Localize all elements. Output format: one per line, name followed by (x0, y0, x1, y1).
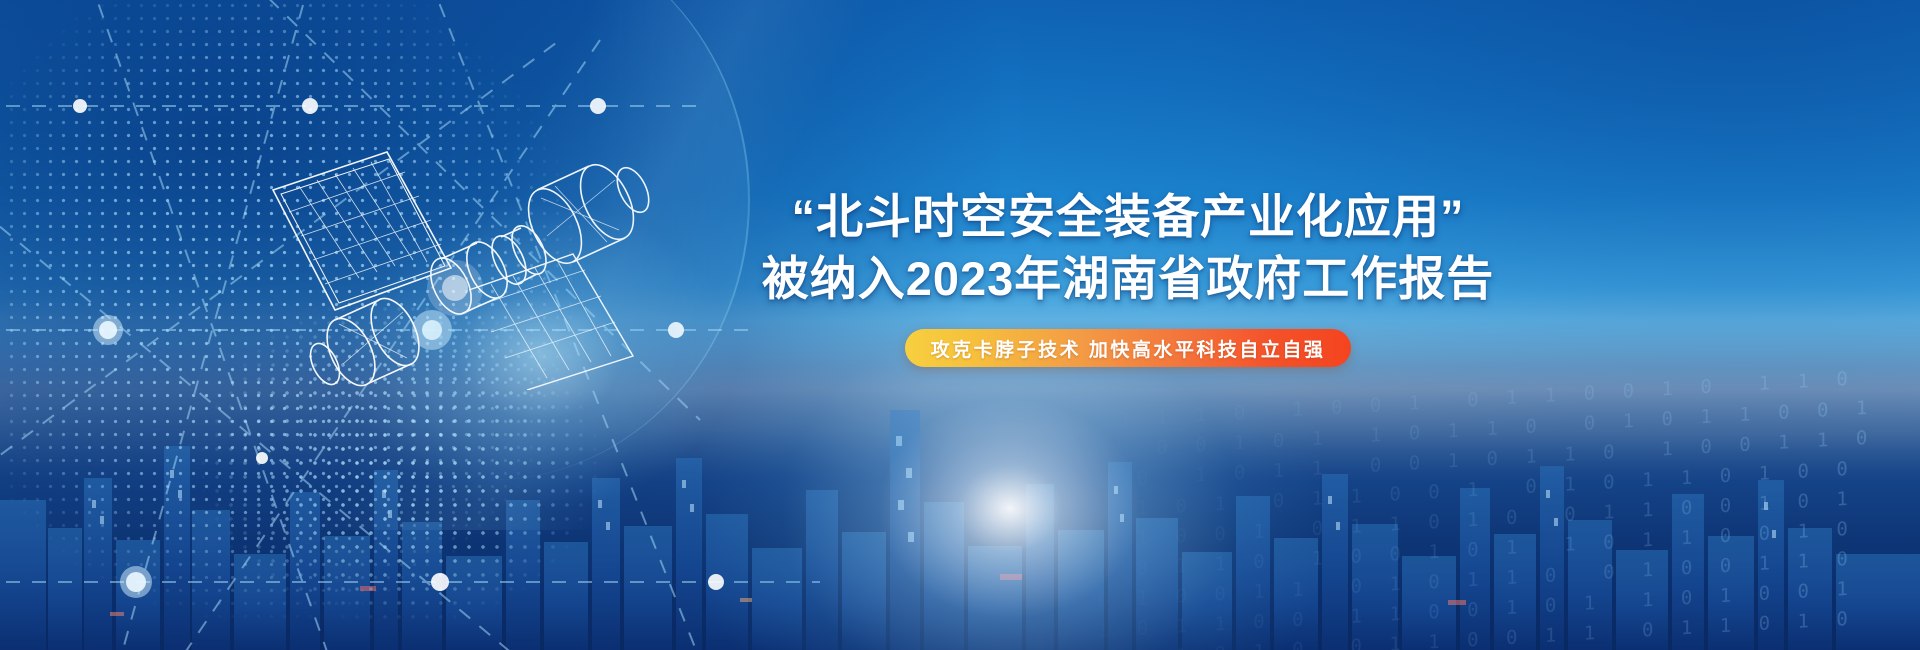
binary-overlay-icon: 1 0 0 1 1 0 1 0 0 1 0 1 1 0 0 1 0 1 1 0 … (1020, 360, 1920, 650)
wireframe-satellite-icon (255, 120, 655, 390)
banner-copy: “北斗时空安全装备产业化应用” 被纳入2023年湖南省政府工作报告 攻克卡脖子技… (648, 186, 1608, 367)
headline-line-2: 被纳入2023年湖南省政府工作报告 (648, 248, 1608, 310)
slogan-pill[interactable]: 攻克卡脖子技术 加快高水平科技自立自强 (905, 329, 1352, 367)
banner-root: 1 0 0 1 1 0 1 0 0 1 0 1 1 0 0 1 0 1 1 0 … (0, 0, 1920, 650)
headline-line-1: “北斗时空安全装备产业化应用” (648, 186, 1608, 248)
slogan-row: 攻克卡脖子技术 加快高水平科技自立自强 (648, 329, 1608, 367)
